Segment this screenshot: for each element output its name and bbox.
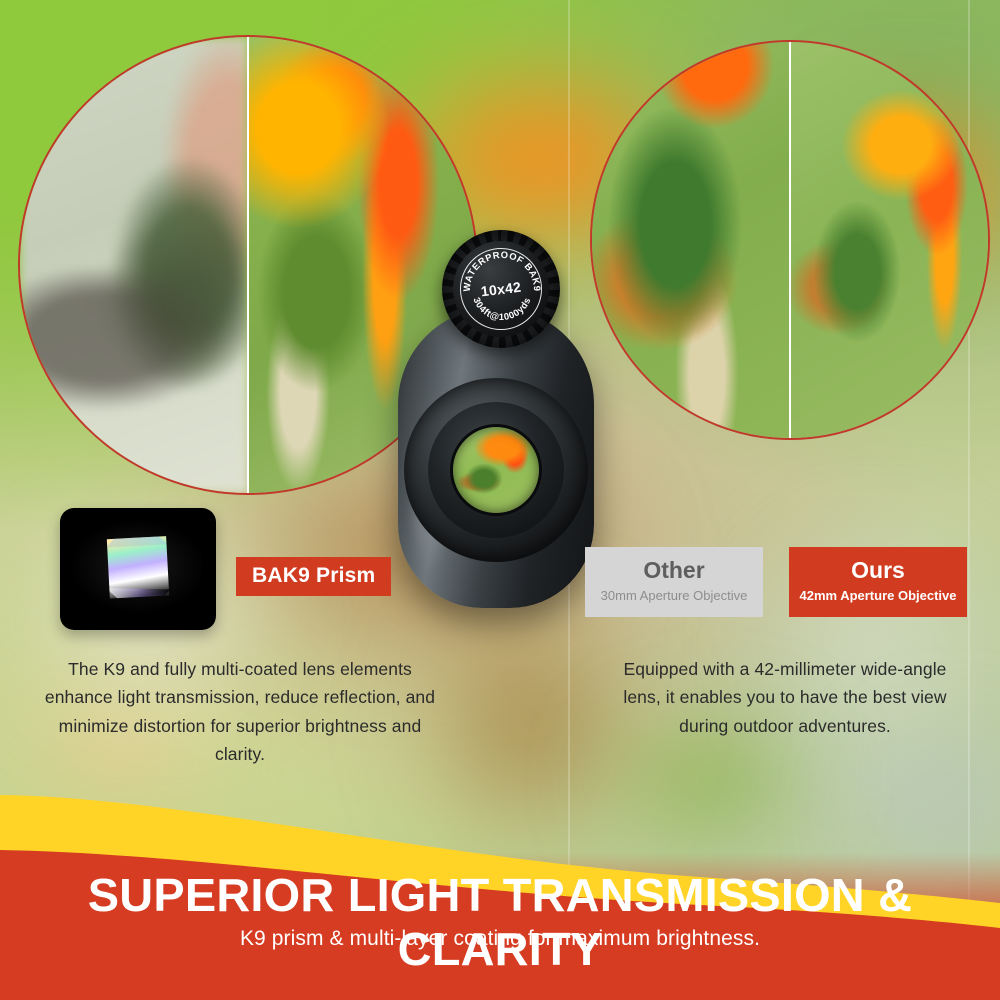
prism-description: The K9 and fully multi-coated lens eleme… [40, 655, 440, 768]
compare-box-other: Other 30mm Aperture Objective [585, 547, 763, 617]
compare-ours-subtitle: 42mm Aperture Objective [789, 588, 967, 605]
focus-knob: WATERPROOF BAK9 304ft@1000yds 10x42 [442, 230, 560, 348]
bottom-banner: SUPERIOR LIGHT TRANSMISSION & CLARITY K9… [0, 795, 1000, 1000]
monocular-product-image: WATERPROOF BAK9 304ft@1000yds 10x42 [370, 228, 620, 648]
knob-bottom-arc-label: 304ft@1000yds [471, 295, 532, 322]
narrow-view-half [592, 42, 790, 438]
bak9-prism-tag: BAK9 Prism [236, 557, 391, 596]
comparison-circle-field-of-view [590, 40, 990, 440]
blurred-view-half [20, 37, 248, 493]
compare-box-ours: Ours 42mm Aperture Objective [789, 547, 967, 617]
knob-stamp-ring: WATERPROOF BAK9 304ft@1000yds 10x42 [460, 248, 542, 330]
compare-other-subtitle: 30mm Aperture Objective [585, 588, 763, 605]
aperture-description: Equipped with a 42-millimeter wide-angle… [605, 655, 965, 740]
circle-divider [789, 42, 791, 438]
objective-lens-preview [453, 427, 539, 513]
prism-icon [79, 508, 198, 627]
compare-ours-title: Ours [789, 557, 967, 584]
prism-thumbnail [60, 508, 216, 630]
wide-view-half [790, 42, 988, 438]
compare-other-title: Other [585, 557, 763, 584]
banner-subheadline: K9 prism & multi-layer coating for maxim… [0, 927, 1000, 951]
circle-divider [247, 37, 249, 493]
banner-headline: SUPERIOR LIGHT TRANSMISSION & CLARITY [0, 868, 1000, 976]
